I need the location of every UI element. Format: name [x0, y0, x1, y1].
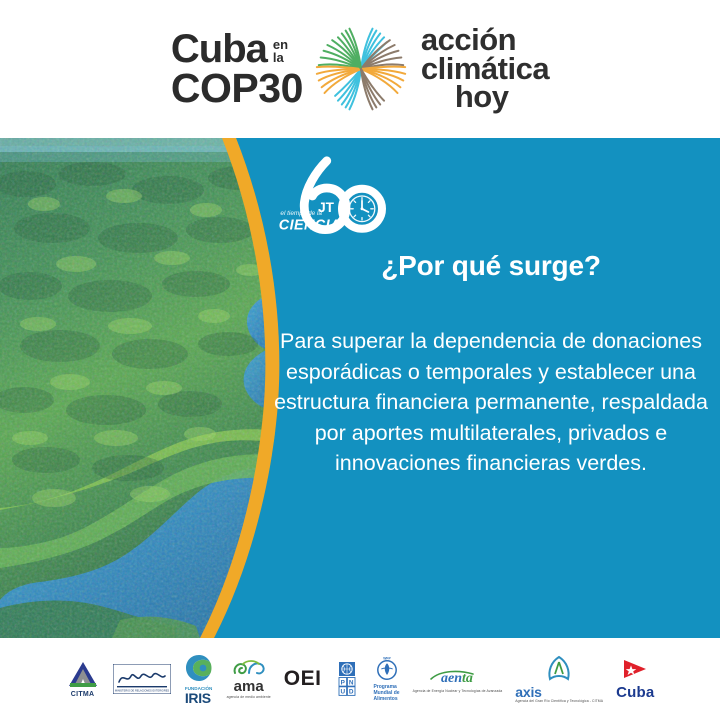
aenta-icon: aenta	[429, 666, 485, 688]
rainforest-photo	[0, 138, 285, 638]
logo-fundacion-iris: FUNDACIÓN IRIS	[184, 653, 214, 706]
svg-text:aenta: aenta	[441, 671, 473, 686]
axis-icon	[546, 655, 572, 681]
logo-wfp: WFP ProgramaMundial deAlimentos	[373, 655, 399, 702]
ama-label: ama	[234, 679, 264, 694]
accion-climatica-hoy-logo: acción climática hoy	[421, 26, 549, 112]
body-paragraph: Para superar la dependencia de donacione…	[274, 326, 708, 479]
minrex-icon: MINISTERIO DE RELACIONES EXTERIORES	[113, 664, 171, 694]
badge-tagline-big: CIENCIA	[279, 218, 341, 234]
logo-pnud: P N U D	[334, 662, 360, 696]
partner-logos-bar: CITMA MINISTERIO DE RELACIONES EXTERIORE…	[0, 638, 720, 720]
ama-icon	[229, 659, 269, 679]
iris-label: IRIS	[185, 691, 211, 705]
logo-minrex: MINISTERIO DE RELACIONES EXTERIORES	[113, 664, 171, 694]
cuba-word: Cuba	[171, 30, 267, 68]
clock-icon	[362, 201, 368, 212]
cuba-logo-row: Cuba en la	[171, 30, 288, 68]
pinwheel-logo-icon	[313, 21, 409, 117]
aenta-sub: Agencia de Energía Nuclear y Tecnologías…	[413, 689, 503, 693]
logo-aenta: aenta Agencia de Energía Nuclear y Tecno…	[413, 666, 503, 693]
logo-ama: ama agencia de medio ambiente	[227, 659, 271, 699]
ciencia-60-badge: JT	[274, 156, 394, 236]
citma-label: CITMA	[71, 691, 95, 698]
cuba-flag-icon	[622, 658, 648, 680]
panel-content: JT	[262, 138, 720, 638]
wfp-sub: ProgramaMundial deAlimentos	[373, 685, 399, 702]
wfp-icon: WFP	[375, 655, 399, 681]
cuba-la-text: la	[273, 51, 284, 64]
pnud-icon: P N U D	[334, 662, 360, 696]
citma-icon	[66, 660, 100, 690]
logo-cuba: Cuba	[616, 658, 654, 701]
ama-sub: agencia de medio ambiente	[227, 695, 271, 699]
svg-text:WFP: WFP	[383, 657, 391, 661]
cuba-enla-stack: en la	[273, 38, 288, 68]
header-bar: Cuba en la COP30	[0, 0, 720, 138]
logo-axis: axis Agencia del Gran Río Científica y T…	[515, 655, 603, 703]
svg-text:P: P	[341, 679, 346, 686]
oei-label: OEI	[284, 667, 322, 691]
infographic-poster: Cuba en la COP30	[0, 0, 720, 720]
cuba-cop30-logo: Cuba en la COP30	[171, 30, 303, 109]
main-panel: JT	[0, 138, 720, 638]
slogan-line-3: hoy	[421, 83, 509, 112]
axis-label: axis	[515, 685, 541, 699]
svg-text:N: N	[349, 679, 354, 686]
slogan-line-3-text: hoy	[455, 79, 509, 114]
page-title: ¿Por qué surge?	[262, 250, 720, 282]
logo-citma: CITMA	[66, 660, 100, 698]
cuba-footer-label: Cuba	[616, 684, 654, 701]
badge-tagline-small: el tiempo de la	[280, 210, 322, 217]
axis-sub: Agencia del Gran Río Científica y Tecnol…	[515, 700, 603, 703]
svg-text:D: D	[349, 689, 354, 696]
logo-oei: OEI	[284, 667, 322, 691]
cop30-word: COP30	[171, 69, 303, 108]
iris-icon	[184, 653, 214, 683]
minrex-sub: MINISTERIO DE RELACIONES EXTERIORES	[114, 689, 169, 693]
svg-text:U: U	[341, 689, 346, 696]
